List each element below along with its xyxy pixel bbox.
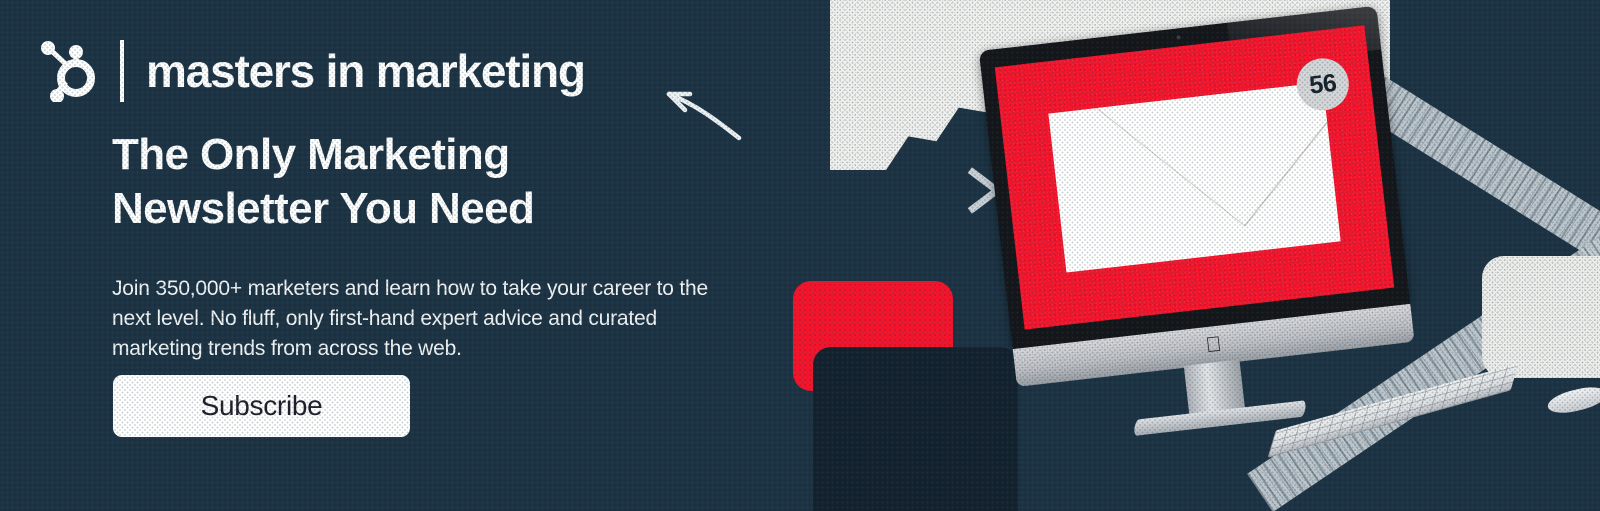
mouse-illustration [1546,383,1600,417]
dark-speech-bubble-decoration [813,347,1018,511]
imac-computer-illustration: 56  [977,0,1443,462]
webcam-icon [1176,35,1180,39]
banner-content: masters in marketing The Only Marketing … [0,0,760,511]
page-title: The Only Marketing Newsletter You Need [112,128,752,235]
white-rounded-card-decoration [1482,256,1600,378]
newsletter-promo-banner: 56  masters in marketi [0,0,1600,511]
brand-lockup: masters in marketing [40,40,585,102]
headline-line-1: The Only Marketing [112,128,752,182]
subcopy-text: Join 350,000+ marketers and learn how to… [112,274,752,365]
monitor-bezel: 56 [979,6,1410,349]
monitor-screen: 56 [995,25,1394,329]
hubspot-sprocket-icon [40,40,98,102]
apple-logo-icon:  [1205,333,1223,356]
headline-line-2: Newsletter You Need [112,182,752,236]
brand-wordmark: masters in marketing [146,48,585,94]
envelope-flap [1048,82,1340,272]
brand-divider [120,40,124,102]
unread-count-badge: 56 [1294,56,1352,114]
envelope-icon [1048,82,1340,272]
subscribe-button[interactable]: Subscribe [113,375,410,437]
keyboard-illustration [1268,363,1519,457]
illustration-collage: 56  [760,0,1600,511]
